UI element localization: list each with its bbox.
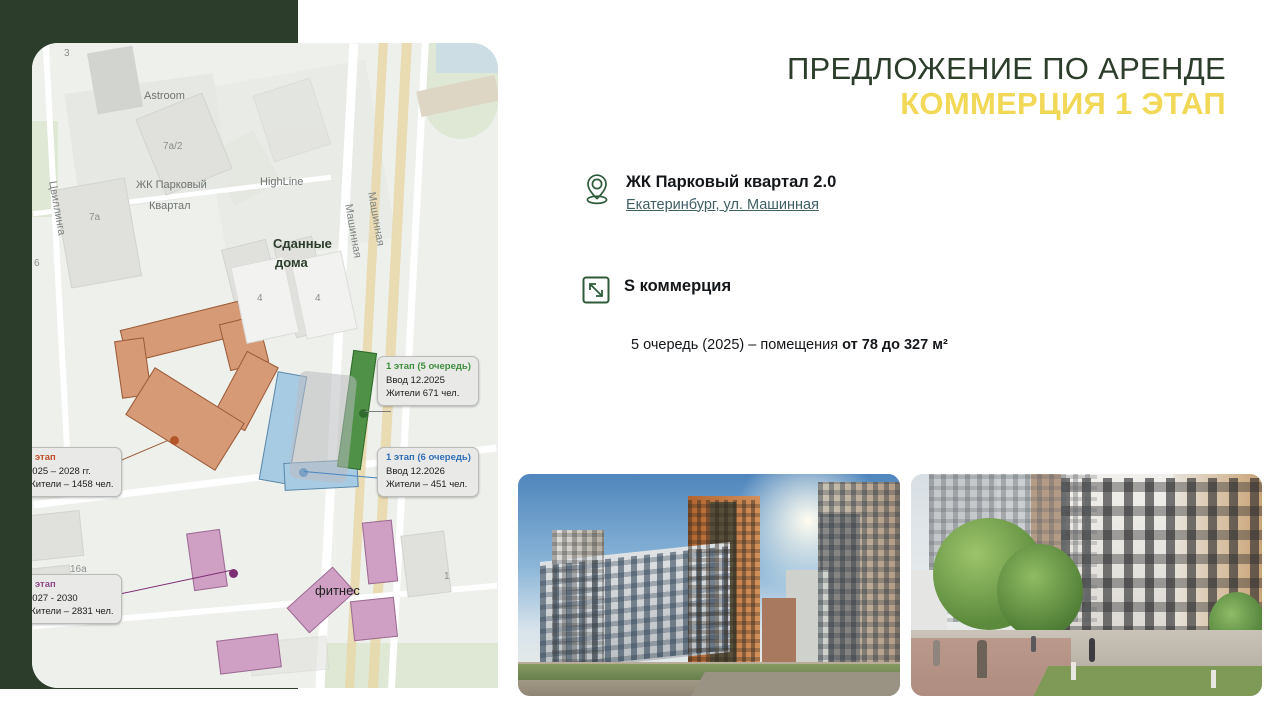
callout-title: 2 этап — [32, 452, 114, 465]
photo-window-grid — [552, 530, 604, 672]
photo-building — [762, 598, 796, 668]
callout-line: Жители – 1458 чел. — [32, 479, 114, 492]
map-label: ЖК Парковый — [136, 179, 207, 191]
map-label: 7а — [89, 212, 100, 223]
title-line-2: КОММЕРЦИЯ 1 ЭТАП — [787, 87, 1226, 122]
map-label: 6 — [34, 258, 40, 269]
map-canvas: Astroom7а/27а36ЖК ПарковыйКварталHighLin… — [32, 43, 498, 688]
callout-line: Жители – 2831 чел. — [32, 606, 114, 619]
footprint-stage3 — [350, 597, 398, 641]
callout-line: Жители – 451 чел. — [386, 479, 471, 492]
callout-title: 3 этап — [32, 579, 114, 592]
photo-render-street[interactable] — [911, 474, 1262, 696]
map-label: Astroom — [144, 90, 185, 102]
callout-line: 2025 – 2028 гг. — [32, 466, 114, 479]
map-callout-stage1-queue6: 1 этап (6 очередь)Ввод 12.2026Жители – 4… — [377, 447, 479, 497]
page-title: ПРЕДЛОЖЕНИЕ ПО АРЕНДЕ КОММЕРЦИЯ 1 ЭТАП — [787, 52, 1226, 121]
area-detail-prefix: 5 очередь (2025) – помещения — [631, 337, 842, 353]
area-detail-range: от 78 до 327 м² — [842, 337, 948, 353]
callout-title: 1 этап (6 очередь) — [386, 452, 471, 465]
map-label: 4 — [257, 293, 263, 304]
map-label: HighLine — [260, 176, 303, 188]
map-label: фитнес — [315, 583, 360, 598]
complex-address[interactable]: Екатеринбург, ул. Машинная — [626, 196, 836, 215]
map-label: 4 — [315, 293, 321, 304]
callout-line: 2027 - 2030 — [32, 593, 114, 606]
area-resize-icon — [582, 276, 610, 309]
area-heading: S коммерция — [624, 276, 731, 297]
map-callout-stage1-queue5: 1 этап (5 очередь)Ввод 12.2025Жители 671… — [377, 356, 479, 406]
map-marker-stage2 — [170, 436, 179, 445]
map-callout-stage3: 3 этап2027 - 2030Жители – 2831 чел. — [32, 574, 122, 624]
photo-pedestrian — [1031, 636, 1036, 652]
map-label: Сданные — [273, 236, 332, 251]
callout-line: Жители 671 чел. — [386, 388, 471, 401]
map-building — [32, 510, 84, 562]
map-label: Квартал — [149, 200, 191, 212]
map-callout-stage2: 2 этап2025 – 2028 гг.Жители – 1458 чел. — [32, 447, 122, 497]
photo-path — [691, 672, 900, 696]
photo-pedestrian — [933, 640, 940, 666]
map-label: 3 — [64, 48, 70, 59]
map-building — [400, 531, 451, 598]
location-pin-icon — [582, 172, 612, 211]
map-water-area — [436, 43, 498, 73]
photo-window-grid — [688, 500, 760, 670]
map-label: дома — [275, 255, 308, 270]
location-info-row: ЖК Парковый квартал 2.0 Екатеринбург, ул… — [582, 172, 836, 214]
area-info-row: S коммерция — [582, 276, 731, 309]
photo-pedestrian — [1089, 638, 1095, 662]
map-label: 1 — [444, 571, 450, 582]
area-detail: 5 очередь (2025) – помещения от 78 до 32… — [631, 337, 948, 353]
photo-window-grid — [818, 482, 900, 682]
site-map-card[interactable]: Astroom7а/27а36ЖК ПарковыйКварталHighLin… — [32, 43, 498, 688]
photo-bollard — [1211, 670, 1216, 688]
title-line-1: ПРЕДЛОЖЕНИЕ ПО АРЕНДЕ — [787, 52, 1226, 87]
map-label: 7а/2 — [163, 141, 182, 152]
photo-render-towers[interactable] — [518, 474, 900, 696]
complex-name: ЖК Парковый квартал 2.0 — [626, 172, 836, 193]
callout-leader — [365, 411, 391, 412]
map-courtyard — [289, 370, 358, 483]
photo-pedestrian — [977, 640, 987, 678]
photo-tree — [997, 544, 1083, 638]
callout-line: Ввод 12.2025 — [386, 375, 471, 388]
photo-bollard — [1071, 662, 1076, 680]
photo-lawn — [1034, 666, 1262, 696]
slide-root: Astroom7а/27а36ЖК ПарковыйКварталHighLin… — [0, 0, 1280, 720]
callout-line: Ввод 12.2026 — [386, 466, 471, 479]
footprint-stage3 — [362, 520, 398, 585]
callout-title: 1 этап (5 очередь) — [386, 361, 471, 374]
